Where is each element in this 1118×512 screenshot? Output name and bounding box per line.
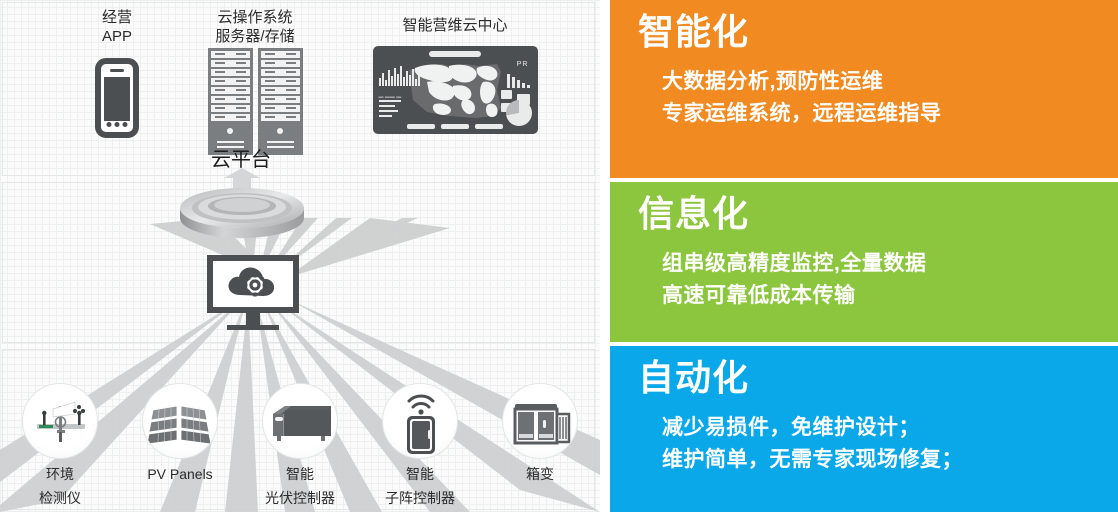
world-map-graphic xyxy=(405,60,505,122)
smart-array-controller-icon xyxy=(382,383,458,459)
cloud-management-monitor-icon xyxy=(207,255,299,330)
smart-om-cloud-center-label-group: 智能营维云中心 xyxy=(380,16,530,35)
box-transformer-icon xyxy=(502,383,578,459)
device-environment-monitor[interactable]: 环境 检测仪 xyxy=(0,383,120,507)
phone-home-dots xyxy=(107,122,128,127)
device-label-line2: 光伏控制器 xyxy=(240,489,360,507)
server-rack-right xyxy=(258,48,303,155)
cloud-os-label-group: 云操作系统 服务器/存储 xyxy=(200,8,310,46)
operations-app-label-line1: 经营 xyxy=(72,8,162,27)
device-row: 环境 检测仪 xyxy=(0,383,600,507)
capability-panels: 智能化 大数据分析,预防性运维 专家运维系统，远程运维指导 信息化 组串级高精度… xyxy=(610,0,1118,512)
device-label-line1: 箱变 xyxy=(480,465,600,483)
operations-app-label-group: 经营 APP xyxy=(72,8,162,46)
panel-informatization-line2: 高速可靠低成本传输 xyxy=(662,280,1118,312)
panel-automation[interactable]: 自动化 减少易损件，免维护设计； 维护简单，无需专家现场修复； xyxy=(610,346,1118,512)
slide-root: 经营 APP 云操作系统 服务器/存储 智能营维云中心 xyxy=(0,0,1118,512)
dashboard-pie-chart xyxy=(506,100,532,126)
panel-intelligence-line1: 大数据分析,预防性运维 xyxy=(662,66,1118,98)
cloud-gear-icon xyxy=(225,265,281,303)
server-rack-icon xyxy=(200,48,310,155)
phone-speaker xyxy=(110,69,124,72)
operations-app-label-line2: APP xyxy=(72,27,162,46)
device-smart-pv-controller[interactable]: 智能 光伏控制器 xyxy=(240,383,360,507)
panel-automation-title: 自动化 xyxy=(638,358,1118,398)
cloud-os-label-line2: 服务器/存储 xyxy=(200,27,310,46)
device-pv-panels[interactable]: PV Panels xyxy=(120,383,240,507)
device-label-line2: 子阵控制器 xyxy=(360,489,480,507)
monitor-base xyxy=(227,325,279,330)
device-smart-array-controller[interactable]: 智能 子阵控制器 xyxy=(360,383,480,507)
cloud-os-label-line1: 云操作系统 xyxy=(200,8,310,27)
monitor-neck xyxy=(246,313,260,325)
panel-informatization-title: 信息化 xyxy=(638,194,1118,234)
dashboard-pr-label: PR xyxy=(517,61,529,68)
dashboard-bar-chart-right xyxy=(507,72,530,88)
device-label-line2: 检测仪 xyxy=(0,489,120,507)
device-box-transformer[interactable]: 箱变 xyxy=(480,383,600,507)
panel-informatization[interactable]: 信息化 组串级高精度监控,全量数据 高速可靠低成本传输 xyxy=(610,182,1118,342)
smart-pv-controller-icon xyxy=(262,383,338,459)
weather-sensor-icon xyxy=(22,383,98,459)
device-label-line1: 智能 xyxy=(240,465,360,483)
phone-screen xyxy=(104,77,130,121)
mobile-phone-icon xyxy=(72,58,162,138)
monitoring-dashboard-icon: ▬ ▬▬ ▬ PR xyxy=(372,46,538,134)
panel-intelligence-line2: 专家运维系统，远程运维指导 xyxy=(662,98,1118,130)
panel-automation-line2: 维护简单，无需专家现场修复； xyxy=(662,444,1118,476)
panel-intelligence[interactable]: 智能化 大数据分析,预防性运维 专家运维系统，远程运维指导 xyxy=(610,0,1118,178)
smart-om-cloud-center-label: 智能营维云中心 xyxy=(380,16,530,35)
device-label-line1: PV Panels xyxy=(120,465,240,483)
cloud-disc-icon xyxy=(178,186,306,238)
device-label-line1: 智能 xyxy=(360,465,480,483)
architecture-diagram-panel: 经营 APP 云操作系统 服务器/存储 智能营维云中心 xyxy=(0,0,600,512)
pv-panels-icon xyxy=(142,383,218,459)
panel-informatization-line1: 组串级高精度监控,全量数据 xyxy=(662,248,1118,280)
server-rack-left xyxy=(208,48,253,155)
dashboard-text-lines xyxy=(379,100,401,120)
panel-intelligence-title: 智能化 xyxy=(638,12,1118,52)
panel-automation-line1: 减少易损件，免维护设计； xyxy=(662,412,1118,444)
device-label-line1: 环境 xyxy=(0,465,120,483)
